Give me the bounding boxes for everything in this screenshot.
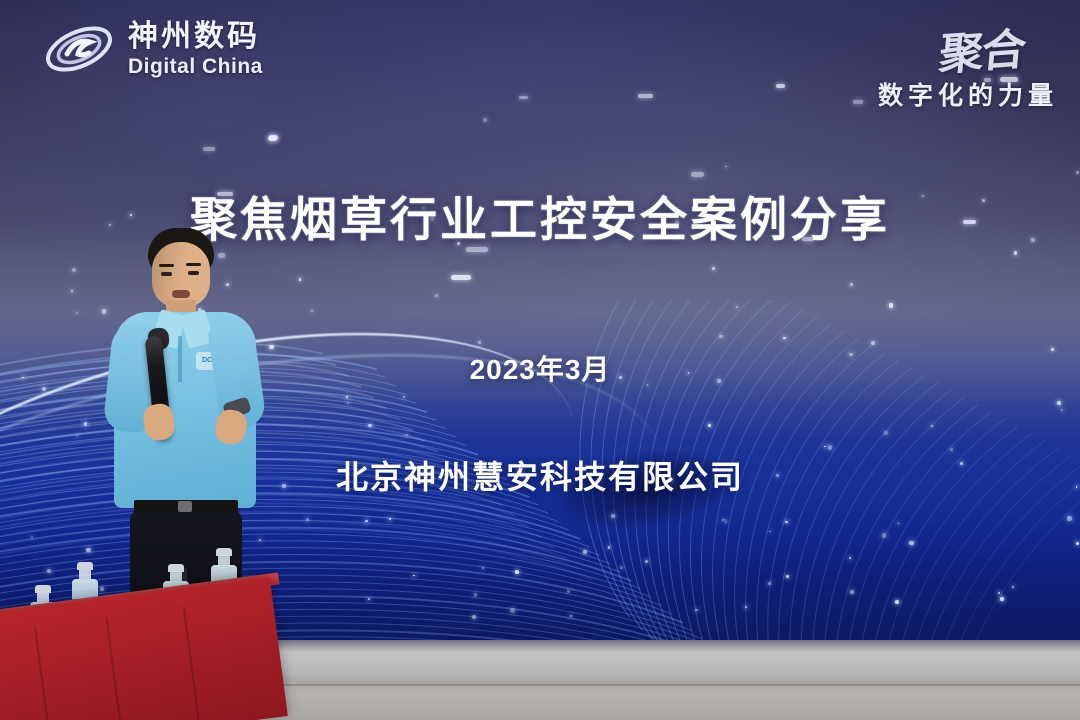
table-cloth-fold	[34, 626, 52, 720]
bottle-cap	[216, 548, 232, 556]
speaker-eye-left	[161, 272, 172, 276]
digital-china-logo: 神州数码 Digital China	[42, 18, 263, 80]
speaker-shirt-placket	[178, 336, 182, 382]
event-calligraphy: 聚合	[937, 13, 1027, 83]
bottle-cap	[77, 562, 93, 570]
bottle-cap	[168, 564, 184, 572]
speaker-eye-right	[188, 271, 199, 275]
table-cloth-fold	[183, 606, 201, 720]
bottle-neck	[170, 572, 182, 581]
logo-chinese-name: 神州数码	[128, 22, 263, 52]
speaker-mouth	[172, 290, 190, 298]
bottle-neck	[218, 556, 230, 565]
event-tagline: 数字化的力量	[878, 76, 1058, 112]
table-cloth-fold	[105, 617, 123, 720]
conference-photo: 神州数码 Digital China 聚合 数字化的力量 聚焦烟草行业工控安全案…	[0, 0, 1080, 720]
bottle-neck	[79, 570, 91, 579]
speaker-belt-buckle	[178, 501, 192, 512]
speaker-brow-right	[186, 263, 201, 266]
digital-china-swirl-logo-icon	[42, 18, 116, 80]
bottle-cap	[35, 585, 51, 593]
logo-english-name: Digital China	[128, 56, 263, 77]
speaker-brow-left	[159, 264, 174, 267]
event-logo: 聚合 数字化的力量	[878, 16, 1058, 112]
bottle-neck	[37, 593, 49, 602]
